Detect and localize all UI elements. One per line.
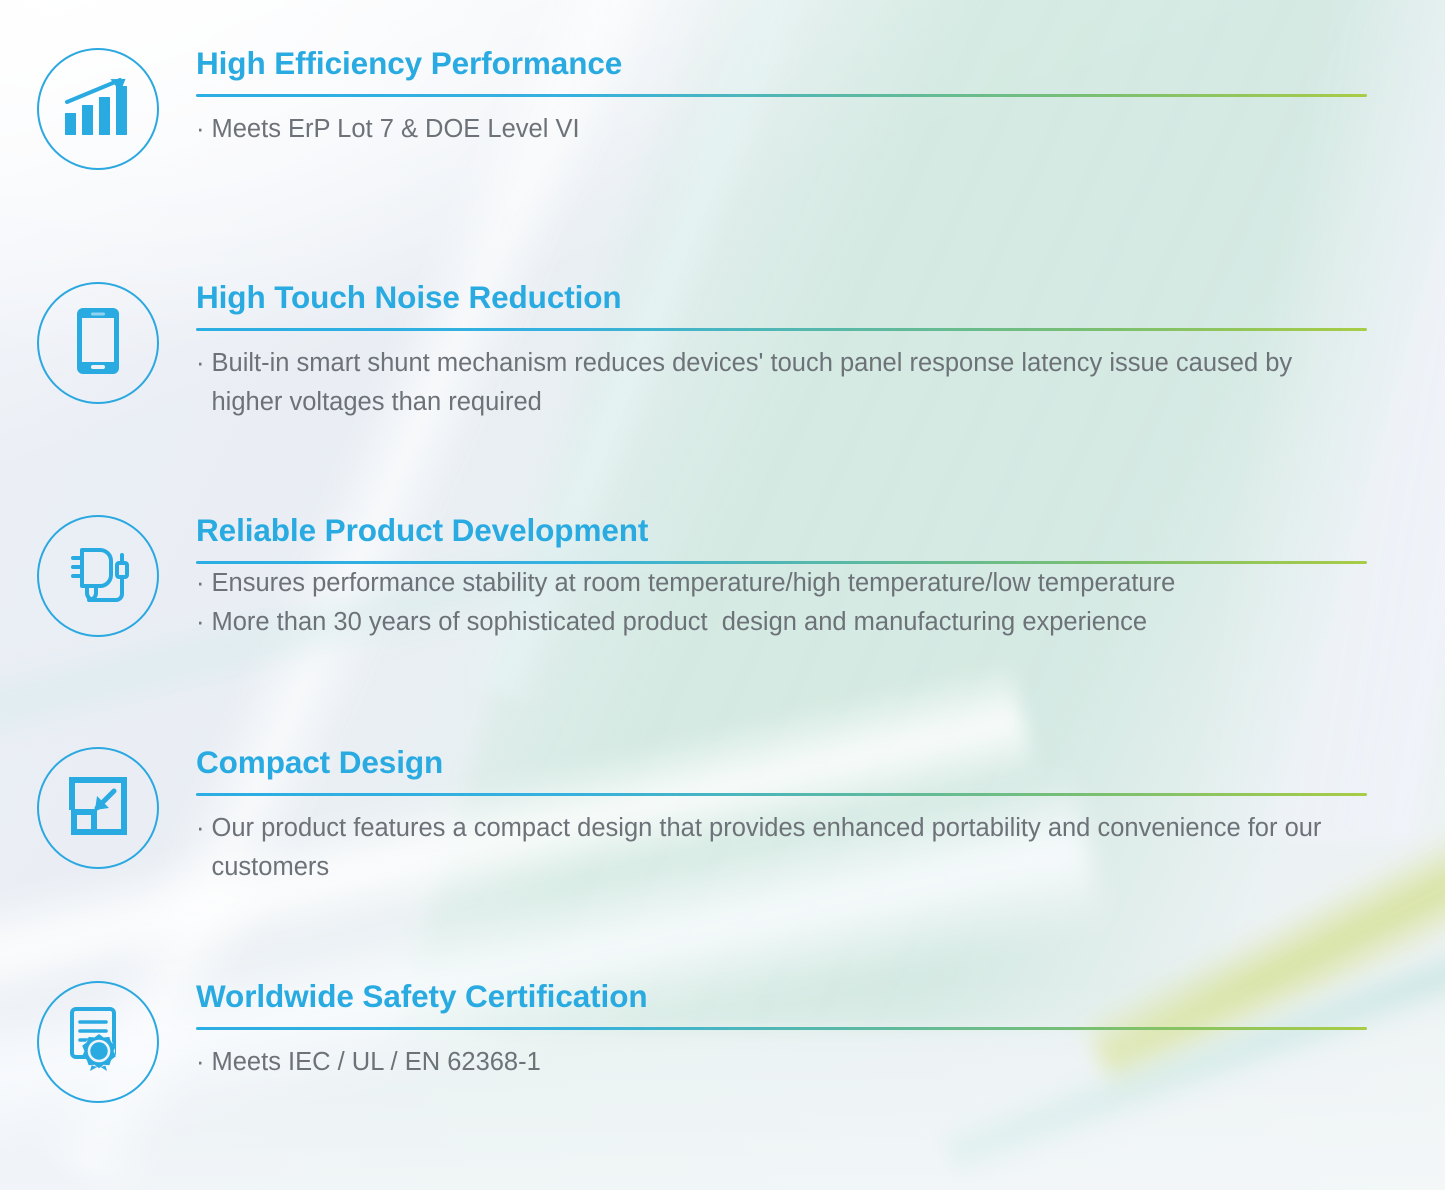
feature-item-reliable-product-development: Reliable Product Development · Ensures p…	[0, 513, 1445, 642]
bullet-item: · Meets ErP Lot 7 & DOE Level VI	[196, 110, 1367, 149]
feature-text-column: Compact Design · Our product features a …	[196, 745, 1445, 887]
feature-bullet-list: · Built-in smart shunt mechanism reduces…	[196, 344, 1367, 422]
feature-item-worldwide-safety-certification: Worldwide Safety Certification · Meets I…	[0, 979, 1445, 1103]
bullet-marker: ·	[196, 564, 205, 603]
bullet-item: · More than 30 years of sophisticated pr…	[196, 603, 1367, 642]
feature-title: Reliable Product Development	[196, 513, 1367, 548]
bullet-text: Ensures performance stability at room te…	[212, 564, 1368, 602]
feature-icon-container	[0, 46, 196, 170]
bar-chart-growth-icon	[62, 75, 134, 144]
certificate-award-icon	[66, 1005, 130, 1080]
feature-divider	[196, 328, 1367, 331]
bullet-marker: ·	[196, 110, 205, 149]
feature-bullet-list: · Our product features a compact design …	[196, 809, 1367, 887]
bullet-text: Our product features a compact design th…	[212, 809, 1368, 887]
feature-text-column: Reliable Product Development · Ensures p…	[196, 513, 1445, 642]
compact-resize-icon	[66, 774, 130, 843]
bullet-marker: ·	[196, 809, 205, 848]
smartphone-icon	[75, 306, 121, 381]
bullet-item: · Ensures performance stability at room …	[196, 564, 1367, 603]
power-adapter-icon	[60, 541, 136, 612]
bullet-item: · Meets IEC / UL / EN 62368-1	[196, 1043, 1367, 1082]
feature-item-high-touch-noise-reduction: High Touch Noise Reduction · Built-in sm…	[0, 280, 1445, 422]
feature-icon-container	[0, 745, 196, 869]
feature-icon-container	[0, 979, 196, 1103]
feature-bullet-list: · Meets ErP Lot 7 & DOE Level VI	[196, 110, 1367, 149]
feature-title: High Touch Noise Reduction	[196, 280, 1367, 315]
feature-text-column: High Touch Noise Reduction · Built-in sm…	[196, 280, 1445, 422]
feature-title: Worldwide Safety Certification	[196, 979, 1367, 1014]
feature-divider	[196, 1027, 1367, 1030]
feature-divider	[196, 94, 1367, 97]
icon-circle	[37, 981, 159, 1103]
feature-title: High Efficiency Performance	[196, 46, 1367, 81]
bullet-item: · Built-in smart shunt mechanism reduces…	[196, 344, 1367, 422]
bullet-text: Meets IEC / UL / EN 62368-1	[212, 1043, 1368, 1082]
feature-icon-container	[0, 513, 196, 637]
feature-title: Compact Design	[196, 745, 1367, 780]
feature-divider	[196, 793, 1367, 796]
feature-text-column: High Efficiency Performance · Meets ErP …	[196, 46, 1445, 149]
bullet-marker: ·	[196, 1043, 205, 1082]
bullet-item: · Our product features a compact design …	[196, 809, 1367, 887]
bullet-text: More than 30 years of sophisticated prod…	[212, 603, 1368, 641]
bullet-marker: ·	[196, 344, 205, 383]
bullet-text: Meets ErP Lot 7 & DOE Level VI	[212, 110, 1368, 149]
icon-circle	[37, 282, 159, 404]
feature-bullet-list: · Meets IEC / UL / EN 62368-1	[196, 1043, 1367, 1082]
feature-icon-container	[0, 280, 196, 404]
feature-list-page: High Efficiency Performance · Meets ErP …	[0, 0, 1445, 1190]
bullet-text: Built-in smart shunt mechanism reduces d…	[212, 344, 1368, 422]
bullet-marker: ·	[196, 603, 205, 642]
feature-item-high-efficiency-performance: High Efficiency Performance · Meets ErP …	[0, 46, 1445, 170]
icon-circle	[37, 515, 159, 637]
icon-circle	[37, 48, 159, 170]
feature-item-compact-design: Compact Design · Our product features a …	[0, 745, 1445, 887]
feature-bullet-list: · Ensures performance stability at room …	[196, 564, 1367, 642]
feature-text-column: Worldwide Safety Certification · Meets I…	[196, 979, 1445, 1082]
icon-circle	[37, 747, 159, 869]
